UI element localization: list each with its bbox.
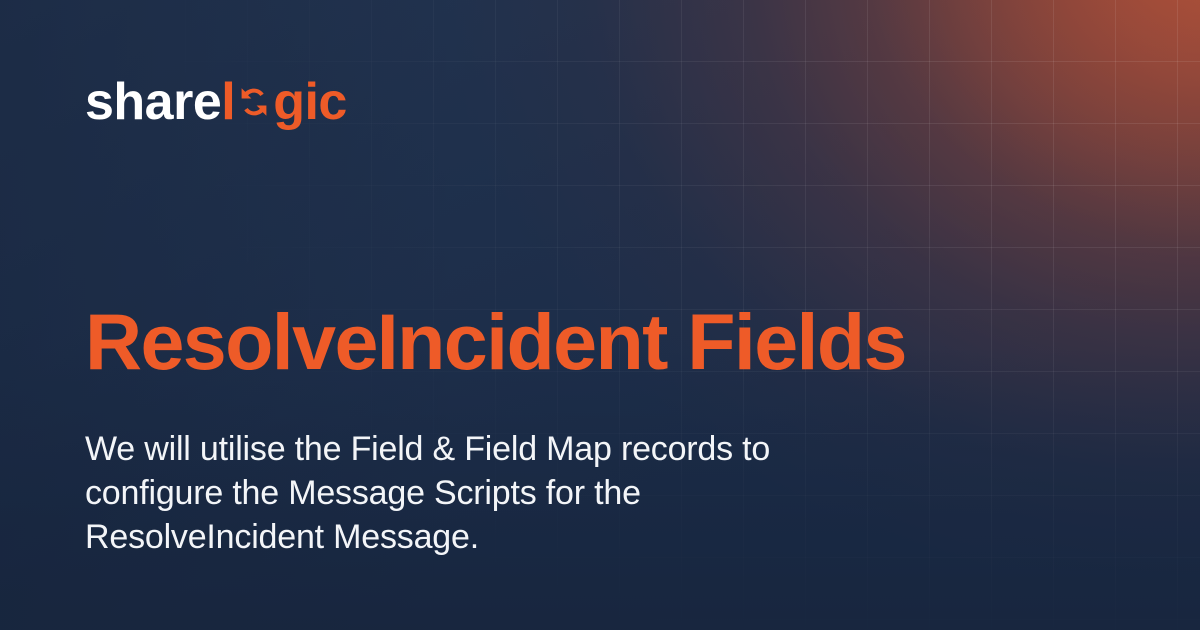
card-content: sharel gic ResolveIncident Fields We wil… — [0, 0, 1200, 630]
subtitle-line-2: configure the Message Scripts for the — [85, 471, 885, 515]
subtitle-line-3: ResolveIncident Message. — [85, 515, 885, 559]
page-subtitle: We will utilise the Field & Field Map re… — [85, 427, 885, 560]
title-card: sharel gic ResolveIncident Fields We wil… — [0, 0, 1200, 630]
logo-text-share: share — [85, 76, 221, 128]
refresh-circular-arrow-icon — [236, 84, 272, 120]
logo-text-gic: gic — [273, 76, 347, 128]
logo-text-l: l — [221, 76, 235, 128]
sharelogic-logo[interactable]: sharel gic — [85, 76, 347, 128]
subtitle-line-1: We will utilise the Field & Field Map re… — [85, 427, 885, 471]
page-title: ResolveIncident Fields — [85, 300, 906, 384]
